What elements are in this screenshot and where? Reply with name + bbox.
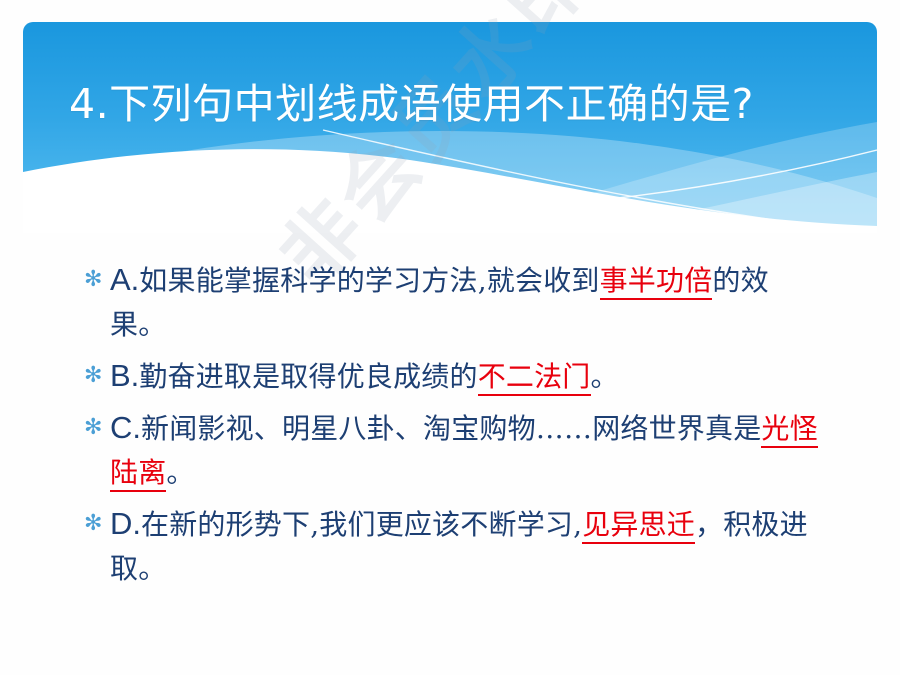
option-d-idiom: 见异思迁: [582, 508, 695, 544]
bullet-asterisk-icon: ✻: [84, 406, 110, 450]
option-c-letter: C.: [110, 410, 141, 445]
list-item[interactable]: ✻ B.勤奋进取是取得优良成绩的不二法门。: [84, 354, 824, 399]
option-c-part-2: 。: [166, 456, 194, 489]
option-d-letter: D.: [110, 506, 141, 541]
page-title: 4.下列句中划线成语使用不正确的是?: [69, 70, 877, 130]
list-item[interactable]: ✻ A.如果能掌握科学的学习方法,就会收到事半功倍的效果。: [84, 258, 824, 347]
option-a-letter: A.: [110, 262, 139, 297]
bullet-asterisk-icon: ✻: [84, 258, 110, 302]
option-d-text: D.在新的形势下,我们更应该不断学习,见异思迁，积极进取。: [110, 502, 824, 591]
option-b-part-0: 勤奋进取是取得优良成绩的: [139, 360, 477, 393]
option-b-text: B.勤奋进取是取得优良成绩的不二法门。: [110, 354, 824, 399]
list-item[interactable]: ✻ C.新闻影视、明星八卦、淘宝购物……网络世界真是光怪陆离。: [84, 406, 824, 495]
list-item[interactable]: ✻ D.在新的形势下,我们更应该不断学习,见异思迁，积极进取。: [84, 502, 824, 591]
bullet-asterisk-icon: ✻: [84, 502, 110, 546]
option-c-part-0: 新闻影视、明星八卦、淘宝购物……网络世界真是: [141, 412, 761, 445]
slide-canvas: 4.下列句中划线成语使用不正确的是? 非会员水印 ✻ A.如果能掌握科学的学习方…: [0, 0, 900, 675]
option-b-idiom: 不二法门: [478, 360, 591, 396]
option-c-text: C.新闻影视、明星八卦、淘宝购物……网络世界真是光怪陆离。: [110, 406, 824, 495]
option-a-text: A.如果能掌握科学的学习方法,就会收到事半功倍的效果。: [110, 258, 824, 347]
option-b-letter: B.: [110, 358, 139, 393]
title-banner: 4.下列句中划线成语使用不正确的是?: [23, 22, 877, 233]
bullet-asterisk-icon: ✻: [84, 354, 110, 398]
option-a-idiom: 事半功倍: [600, 264, 713, 300]
option-b-part-2: 。: [591, 360, 619, 393]
options-list: ✻ A.如果能掌握科学的学习方法,就会收到事半功倍的效果。 ✻ B.勤奋进取是取…: [84, 258, 824, 598]
option-d-part-0: 在新的形势下,我们更应该不断学习,: [141, 508, 582, 541]
option-a-part-0: 如果能掌握科学的学习方法,就会收到: [139, 264, 599, 297]
